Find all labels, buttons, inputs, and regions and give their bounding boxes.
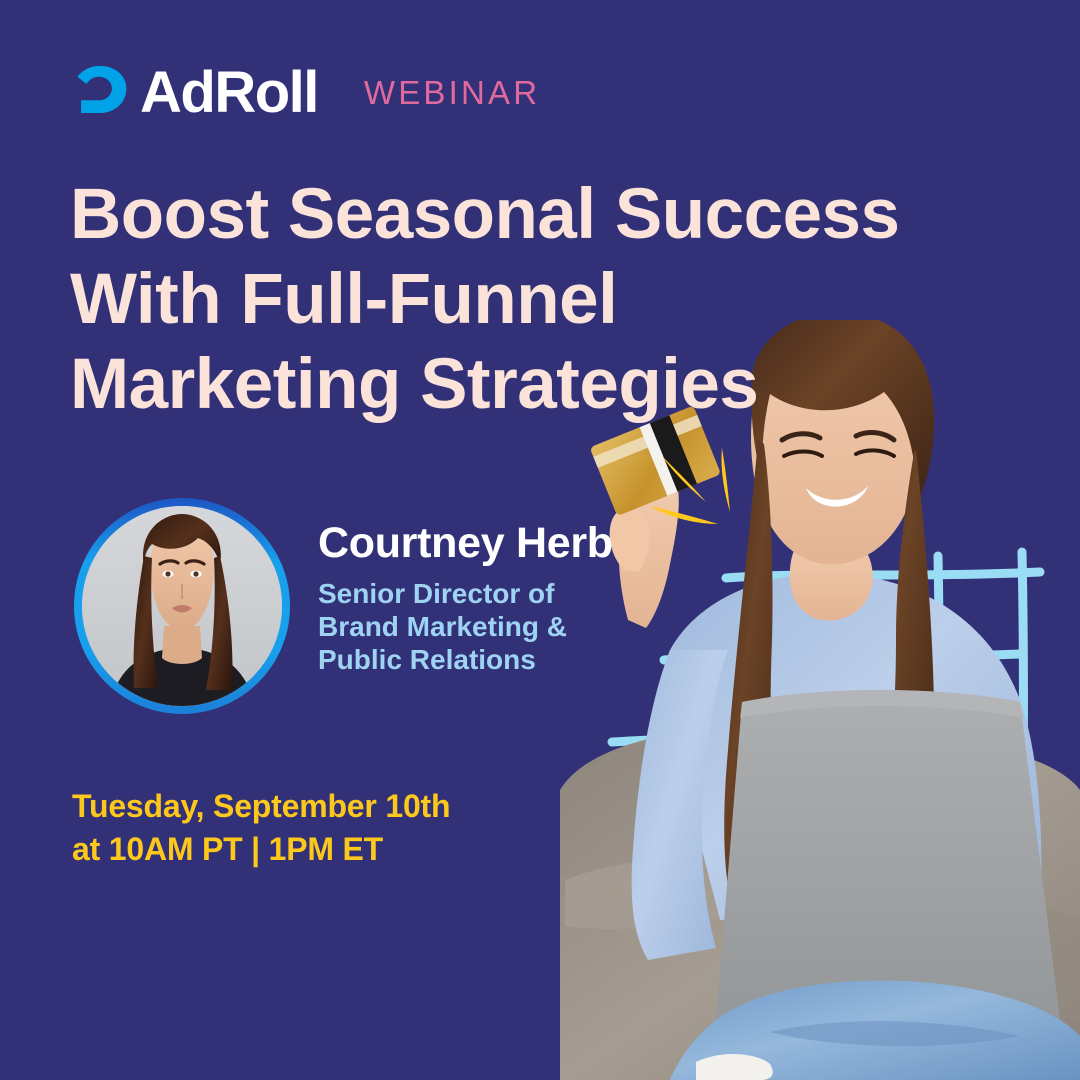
sparkle-lines-decoration [650,440,770,560]
speaker-title-line-2: Brand Marketing & [318,610,613,643]
adroll-swirl-icon [72,64,130,122]
speaker-title-line-3: Public Relations [318,643,613,676]
avatar-photo [82,506,282,706]
adroll-wordmark: AdRoll [140,64,318,122]
speaker-details: Courtney Herb Senior Director of Brand M… [318,498,613,676]
event-datetime: Tuesday, September 10th at 10AM PT | 1PM… [72,785,450,871]
headline-line-2: With Full-Funnel [70,257,900,342]
brand-header: AdRoll WEBINAR [72,64,540,122]
event-time: at 10AM PT | 1PM ET [72,828,450,871]
speaker-title: Senior Director of Brand Marketing & Pub… [318,577,613,676]
speaker-block: Courtney Herb Senior Director of Brand M… [74,498,613,714]
webinar-eyebrow-label: WEBINAR [364,64,540,122]
headline-line-1: Boost Seasonal Success [70,172,900,257]
avatar [74,498,290,714]
headline-line-3: Marketing Strategies [70,342,900,427]
page-title: Boost Seasonal Success With Full-Funnel … [70,172,900,427]
webinar-promo-poster: AdRoll WEBINAR Boost Seasonal Success Wi… [0,0,1080,1080]
event-date: Tuesday, September 10th [72,785,450,828]
speaker-title-line-1: Senior Director of [318,577,613,610]
speaker-name: Courtney Herb [318,518,613,568]
